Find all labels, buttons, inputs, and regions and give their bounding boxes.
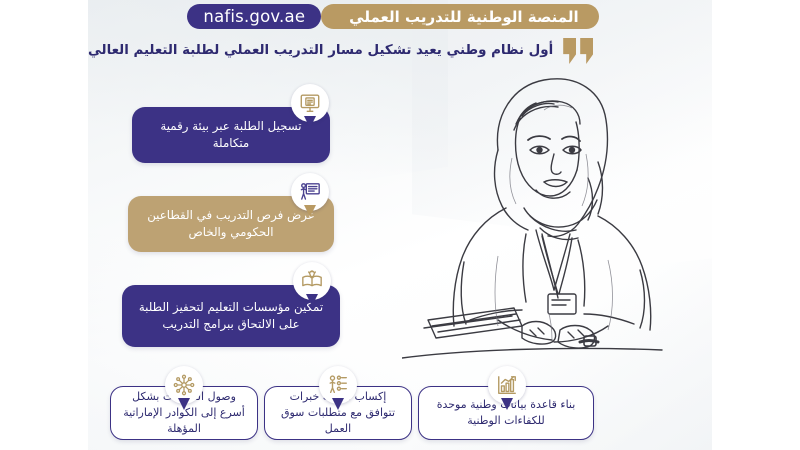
book-lightbulb-icon [301, 270, 323, 292]
pin-tail [304, 116, 316, 128]
infographic-canvas: nafis.gov.ae المنصة الوطنية للتدريب العم… [88, 0, 712, 450]
bar-chart-growth-icon-pin [488, 366, 526, 412]
subtitle-row: أول نظام وطني يعيد تشكيل مسار التدريب ال… [88, 38, 702, 64]
infographic-root: nafis.gov.ae المنصة الوطنية للتدريب العم… [0, 0, 800, 450]
pin-tail [332, 398, 344, 410]
network-nodes-icon [173, 374, 195, 396]
page-title: المنصة الوطنية للتدريب العملي [321, 4, 598, 29]
pin-tail [306, 294, 318, 306]
pin-tail [178, 398, 190, 410]
person-checklist-icon [327, 374, 349, 396]
subtitle-text: أول نظام وطني يعيد تشكيل مسار التدريب ال… [88, 42, 553, 60]
book-lightbulb-icon-pin [293, 262, 331, 308]
network-nodes-icon-pin [165, 366, 203, 412]
monitor-document-icon-pin [291, 84, 329, 130]
presenter-board-icon-pin [291, 173, 329, 219]
header-bar: nafis.gov.ae المنصة الوطنية للتدريب العم… [88, 4, 712, 29]
person-checklist-icon-pin [319, 366, 357, 412]
presenter-board-icon [299, 181, 321, 203]
sketch-of-emirati-woman-student [402, 58, 702, 378]
bar-chart-growth-icon [496, 374, 518, 396]
pin-tail [501, 398, 513, 410]
pin-tail [304, 205, 316, 217]
brand-pill[interactable]: nafis.gov.ae [187, 4, 321, 29]
monitor-document-icon [299, 92, 321, 114]
quote-marks-icon [563, 38, 593, 64]
